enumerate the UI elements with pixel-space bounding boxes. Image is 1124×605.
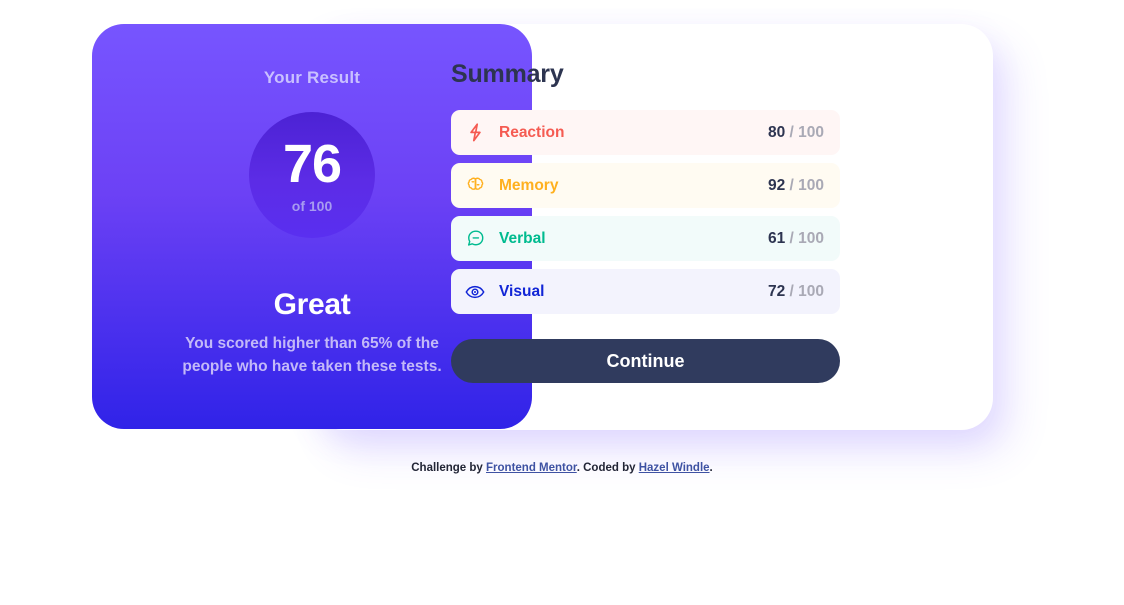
summary-title: Summary <box>451 60 840 89</box>
score-number: 61 <box>768 230 785 247</box>
author-link[interactable]: Hazel Windle <box>639 462 710 474</box>
score-circle: 76 of 100 <box>249 112 375 238</box>
score-denominator: / 100 <box>790 177 824 194</box>
score-number: 72 <box>768 283 785 300</box>
attribution-footer: Challenge by Frontend Mentor. Coded by H… <box>0 462 1124 474</box>
result-summary-page: Your Result 76 of 100 Great You scored h… <box>0 0 1124 605</box>
chat-bubble-minus-icon <box>465 229 485 249</box>
score-denominator: / 100 <box>790 230 824 247</box>
summary-row-label: Reaction <box>499 124 564 142</box>
score-value: 76 <box>283 137 341 191</box>
score-denominator: / 100 <box>790 124 824 141</box>
summary-row-score: 80 / 100 <box>768 124 824 142</box>
score-number: 92 <box>768 177 785 194</box>
frontend-mentor-link[interactable]: Frontend Mentor <box>486 462 577 474</box>
attribution-middle: . Coded by <box>577 462 639 474</box>
summary-row-label: Verbal <box>499 230 546 248</box>
rank-description: You scored higher than 65% of the people… <box>162 332 462 379</box>
summary-row-reaction[interactable]: Reaction 80 / 100 <box>451 110 840 155</box>
lightning-bolt-icon <box>465 123 485 143</box>
brain-icon <box>465 176 485 196</box>
attribution-suffix: . <box>710 462 713 474</box>
summary-row-visual[interactable]: Visual 72 / 100 <box>451 269 840 314</box>
score-number: 80 <box>768 124 785 141</box>
summary-row-score: 72 / 100 <box>768 283 824 301</box>
summary-row-label: Visual <box>499 283 544 301</box>
score-denominator: / 100 <box>790 283 824 300</box>
summary-rows: Reaction 80 / 100 Memory 92 <box>451 110 840 314</box>
continue-button[interactable]: Continue <box>451 339 840 383</box>
summary-row-verbal[interactable]: Verbal 61 / 100 <box>451 216 840 261</box>
summary-row-score: 92 / 100 <box>768 177 824 195</box>
result-summary-card: Your Result 76 of 100 Great You scored h… <box>92 24 993 430</box>
summary-row-label: Memory <box>499 177 558 195</box>
summary-row-memory[interactable]: Memory 92 / 100 <box>451 163 840 208</box>
score-out-of: of 100 <box>292 198 332 214</box>
eye-icon <box>465 282 485 302</box>
attribution-prefix: Challenge by <box>411 462 486 474</box>
summary-section: Summary Reaction 80 / 100 <box>451 24 840 383</box>
summary-row-score: 61 / 100 <box>768 230 824 248</box>
